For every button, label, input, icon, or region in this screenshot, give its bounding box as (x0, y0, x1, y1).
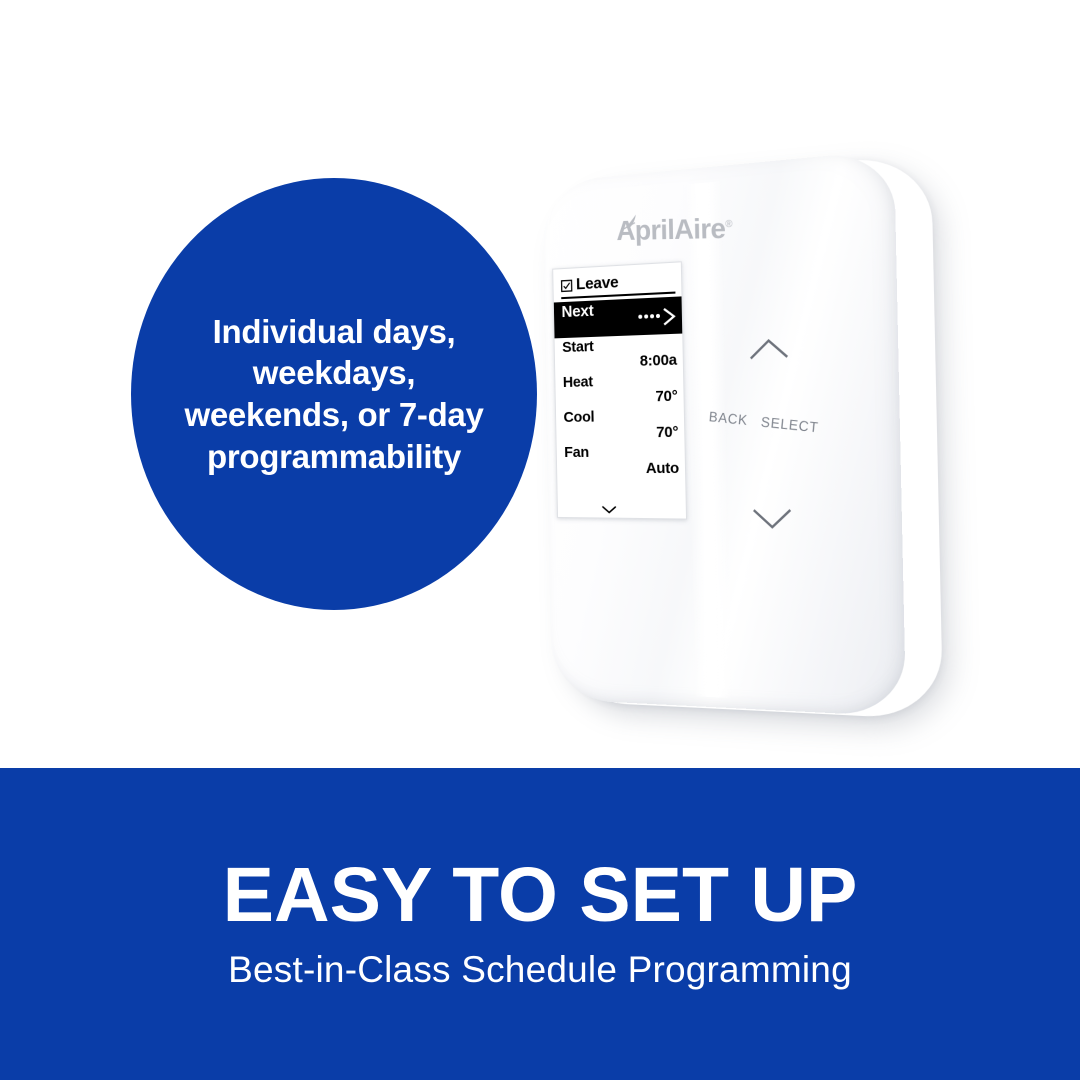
promo-graphic: Individual days, weekdays, weekends, or … (0, 0, 1080, 1080)
back-button[interactable]: BACK (708, 408, 748, 428)
lcd-row-start[interactable]: Start 8:00a (562, 334, 677, 373)
chevron-down-icon (601, 505, 617, 514)
lcd-row-next-label: Next (561, 303, 593, 322)
feature-callout-text: Individual days, weekdays, weekends, or … (162, 311, 505, 477)
lcd-row-cool-label: Cool (563, 408, 594, 426)
banner-title: EASY TO SET UP (223, 857, 858, 934)
lcd-row-start-value: 8:00a (640, 351, 677, 370)
aprilaire-leaf-icon (624, 213, 645, 230)
lcd-row-cool[interactable]: Cool 70° (563, 406, 678, 443)
control-labels: BACK SELECT (708, 408, 873, 441)
thermostat-device: AprilAire® Leave Next (510, 150, 950, 710)
bottom-banner: EASY TO SET UP Best-in-Class Schedule Pr… (0, 768, 1080, 1080)
lcd-row-start-label: Start (562, 338, 594, 356)
thermostat-controls: BACK SELECT (707, 332, 877, 541)
checkbox-checked-icon (561, 280, 573, 293)
chevron-right-icon (662, 307, 678, 326)
lcd-row-fan[interactable]: Fan Auto (564, 442, 679, 478)
lcd-row-next-dots (638, 314, 660, 319)
banner-subtitle: Best-in-Class Schedule Programming (228, 950, 852, 991)
lcd-row-heat-value: 70° (655, 387, 677, 405)
lcd-title: Leave (576, 275, 619, 293)
select-button[interactable]: SELECT (760, 413, 819, 435)
lcd-header: Leave (561, 272, 676, 299)
hero-section: Individual days, weekdays, weekends, or … (0, 0, 1080, 768)
lcd-content: Leave Next Start 8:00a Heat (553, 262, 687, 519)
thermostat-lcd-screen: Leave Next Start 8:00a Heat (552, 261, 687, 519)
lcd-row-next[interactable]: Next (554, 296, 684, 338)
feature-callout-circle: Individual days, weekdays, weekends, or … (131, 178, 537, 610)
chevron-down-icon[interactable] (752, 508, 793, 530)
lcd-row-cool-value: 70° (656, 423, 678, 441)
chevron-up-icon[interactable] (748, 337, 789, 361)
aprilaire-logo: AprilAire® (607, 203, 805, 254)
lcd-row-fan-label: Fan (564, 444, 589, 461)
lcd-row-heat-label: Heat (563, 373, 593, 391)
lcd-row-fan-value: Auto (646, 460, 679, 478)
lcd-row-heat[interactable]: Heat 70° (563, 370, 678, 408)
